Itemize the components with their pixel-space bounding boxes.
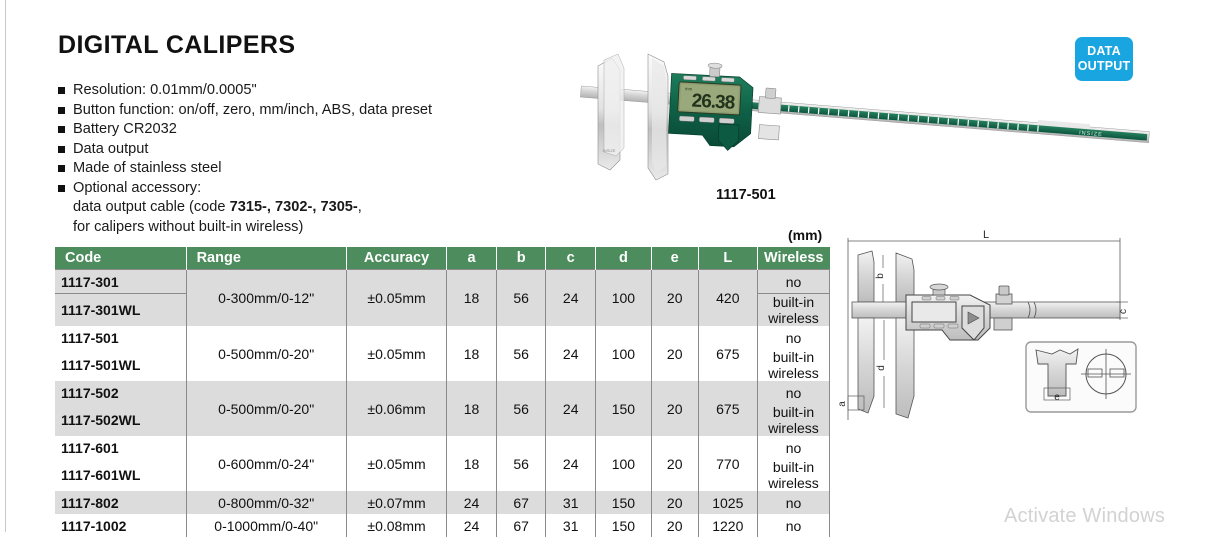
dim-label-c: c	[1118, 309, 1129, 314]
feature-list: Resolution: 0.01mm/0.0005" Button functi…	[58, 81, 528, 237]
cell-L: 675	[698, 381, 757, 436]
square-bullet-icon	[58, 87, 65, 94]
table-row: 1117-3010-300mm/0-12"±0.05mm185624100204…	[55, 270, 830, 294]
feature-text: Battery CR2032	[73, 120, 177, 140]
spec-table: Code Range Accuracy a b c d e L Wireless…	[55, 247, 830, 537]
page-title: DIGITAL CALIPERS	[58, 31, 295, 60]
accessory-codes: 7315-, 7302-, 7305-	[230, 199, 358, 215]
cell-wireless: no	[757, 270, 829, 294]
cell-a: 24	[447, 491, 497, 514]
table-body: 1117-3010-300mm/0-12"±0.05mm185624100204…	[55, 270, 830, 537]
cell-b: 56	[496, 381, 546, 436]
cell-d: 100	[595, 270, 651, 327]
cell-a: 24	[447, 514, 497, 537]
dim-label-L: L	[983, 229, 989, 241]
dim-label-d: d	[876, 365, 887, 371]
table-row: 1117-5010-500mm/0-20"±0.05mm185624100206…	[55, 326, 830, 349]
cell-L: 420	[698, 270, 757, 327]
col-header-range: Range	[186, 247, 346, 270]
cell-d: 150	[595, 514, 651, 537]
cell-b: 56	[496, 436, 546, 491]
cell-b: 67	[496, 491, 546, 514]
col-header-wireless: Wireless	[757, 247, 829, 270]
unit-label: (mm)	[788, 227, 822, 243]
cell-wireless: no	[757, 436, 829, 459]
cell-accuracy: ±0.05mm	[346, 436, 446, 491]
table-row: 1117-6010-600mm/0-24"±0.05mm185624100207…	[55, 436, 830, 459]
cell-range: 0-600mm/0-24"	[186, 436, 346, 491]
feature-text: Optional accessory:	[73, 179, 201, 199]
cell-L: 770	[698, 436, 757, 491]
col-header-e: e	[651, 247, 698, 270]
table-row: 1117-8020-800mm/0-32"±0.07mm246731150201…	[55, 491, 830, 514]
cell-b: 67	[496, 514, 546, 537]
list-item: Data output	[58, 140, 528, 160]
cell-range: 0-300mm/0-12"	[186, 270, 346, 327]
feature-text: Resolution: 0.01mm/0.0005"	[73, 81, 257, 101]
accessory-prefix: data output cable (code	[73, 199, 230, 215]
cell-e: 20	[651, 270, 698, 327]
svg-text:mm: mm	[685, 86, 693, 91]
cell-d: 150	[595, 381, 651, 436]
cell-a: 18	[447, 381, 497, 436]
cell-e: 20	[651, 436, 698, 491]
cell-accuracy: ±0.06mm	[346, 381, 446, 436]
feature-text: Data output	[73, 140, 148, 160]
cell-wireless: built-in wireless	[757, 459, 829, 491]
cell-wireless: no	[757, 326, 829, 349]
cell-a: 18	[447, 326, 497, 381]
cell-accuracy: ±0.05mm	[346, 326, 446, 381]
cell-c: 31	[546, 514, 596, 537]
col-header-c: c	[546, 247, 596, 270]
cell-L: 1220	[698, 514, 757, 537]
cell-a: 18	[447, 270, 497, 327]
cell-wireless: built-in wireless	[757, 404, 829, 436]
cell-accuracy: ±0.07mm	[346, 491, 446, 514]
cell-e: 20	[651, 381, 698, 436]
list-item: Button function: on/off, zero, mm/inch, …	[58, 101, 528, 121]
dim-label-e: e	[1054, 392, 1060, 403]
cell-d: 100	[595, 326, 651, 381]
table-row: 1117-10020-1000mm/0-40"±0.08mm2467311502…	[55, 514, 830, 537]
cell-code: 1117-501WL	[55, 349, 186, 381]
col-header-d: d	[595, 247, 651, 270]
cell-range: 0-800mm/0-32"	[186, 491, 346, 514]
cell-range: 0-500mm/0-20"	[186, 326, 346, 381]
cell-code: 1117-1002	[55, 514, 186, 537]
dim-label-b: b	[875, 273, 886, 279]
col-header-a: a	[447, 247, 497, 270]
cell-accuracy: ±0.05mm	[346, 270, 446, 327]
feature-text: Button function: on/off, zero, mm/inch, …	[73, 101, 432, 121]
cell-code: 1117-601	[55, 436, 186, 459]
accessory-suffix: ,	[358, 199, 362, 215]
cell-L: 675	[698, 326, 757, 381]
activate-windows-watermark: Activate Windows	[1004, 505, 1165, 528]
list-item: Battery CR2032	[58, 120, 528, 140]
spec-table-container: Code Range Accuracy a b c d e L Wireless…	[55, 247, 830, 537]
cell-wireless: built-in wireless	[757, 294, 829, 327]
square-bullet-icon	[58, 165, 65, 172]
col-header-L: L	[698, 247, 757, 270]
cell-d: 150	[595, 491, 651, 514]
cell-e: 20	[651, 491, 698, 514]
cell-c: 24	[546, 436, 596, 491]
cell-wireless: built-in wireless	[757, 349, 829, 381]
table-header-row: Code Range Accuracy a b c d e L Wireless	[55, 247, 830, 270]
svg-text:INSIZE: INSIZE	[603, 148, 616, 153]
accessory-detail-line-2: for calipers without built-in wireless)	[73, 218, 528, 238]
list-item: Optional accessory:	[58, 179, 528, 199]
cell-d: 100	[595, 436, 651, 491]
page-left-rule	[5, 0, 6, 532]
cell-accuracy: ±0.08mm	[346, 514, 446, 537]
cell-code: 1117-502	[55, 381, 186, 404]
table-row: 1117-5020-500mm/0-20"±0.06mm185624150206…	[55, 381, 830, 404]
dim-label-a: a	[838, 401, 848, 407]
dimension-drawing: L b c d a e	[838, 228, 1203, 423]
square-bullet-icon	[58, 107, 65, 114]
cell-b: 56	[496, 270, 546, 327]
product-caption: 1117-501	[716, 187, 776, 203]
cell-e: 20	[651, 326, 698, 381]
accessory-detail-line-1: data output cable (code 7315-, 7302-, 73…	[73, 198, 528, 218]
cell-range: 0-500mm/0-20"	[186, 381, 346, 436]
cell-c: 31	[546, 491, 596, 514]
col-header-accuracy: Accuracy	[346, 247, 446, 270]
cell-a: 18	[447, 436, 497, 491]
feature-text: Made of stainless steel	[73, 159, 221, 179]
cell-wireless: no	[757, 491, 829, 514]
cell-code: 1117-301	[55, 270, 186, 294]
cell-code: 1117-301WL	[55, 294, 186, 327]
square-bullet-icon	[58, 185, 65, 192]
product-photo: INSIZE INSIZE 26.38 mm	[560, 28, 1180, 188]
cell-wireless: no	[757, 514, 829, 537]
cell-range: 0-1000mm/0-40"	[186, 514, 346, 537]
cell-c: 24	[546, 326, 596, 381]
cell-c: 24	[546, 270, 596, 327]
list-item: Resolution: 0.01mm/0.0005"	[58, 81, 528, 101]
cell-wireless: no	[757, 381, 829, 404]
cell-b: 56	[496, 326, 546, 381]
cell-e: 20	[651, 514, 698, 537]
cell-code: 1117-501	[55, 326, 186, 349]
square-bullet-icon	[58, 146, 65, 153]
cell-code: 1117-502WL	[55, 404, 186, 436]
col-header-code: Code	[55, 247, 186, 270]
cell-c: 24	[546, 381, 596, 436]
col-header-b: b	[496, 247, 546, 270]
cell-code: 1117-601WL	[55, 459, 186, 491]
square-bullet-icon	[58, 126, 65, 133]
list-item: Made of stainless steel	[58, 159, 528, 179]
cell-code: 1117-802	[55, 491, 186, 514]
svg-text:26.38: 26.38	[691, 91, 735, 114]
cell-L: 1025	[698, 491, 757, 514]
